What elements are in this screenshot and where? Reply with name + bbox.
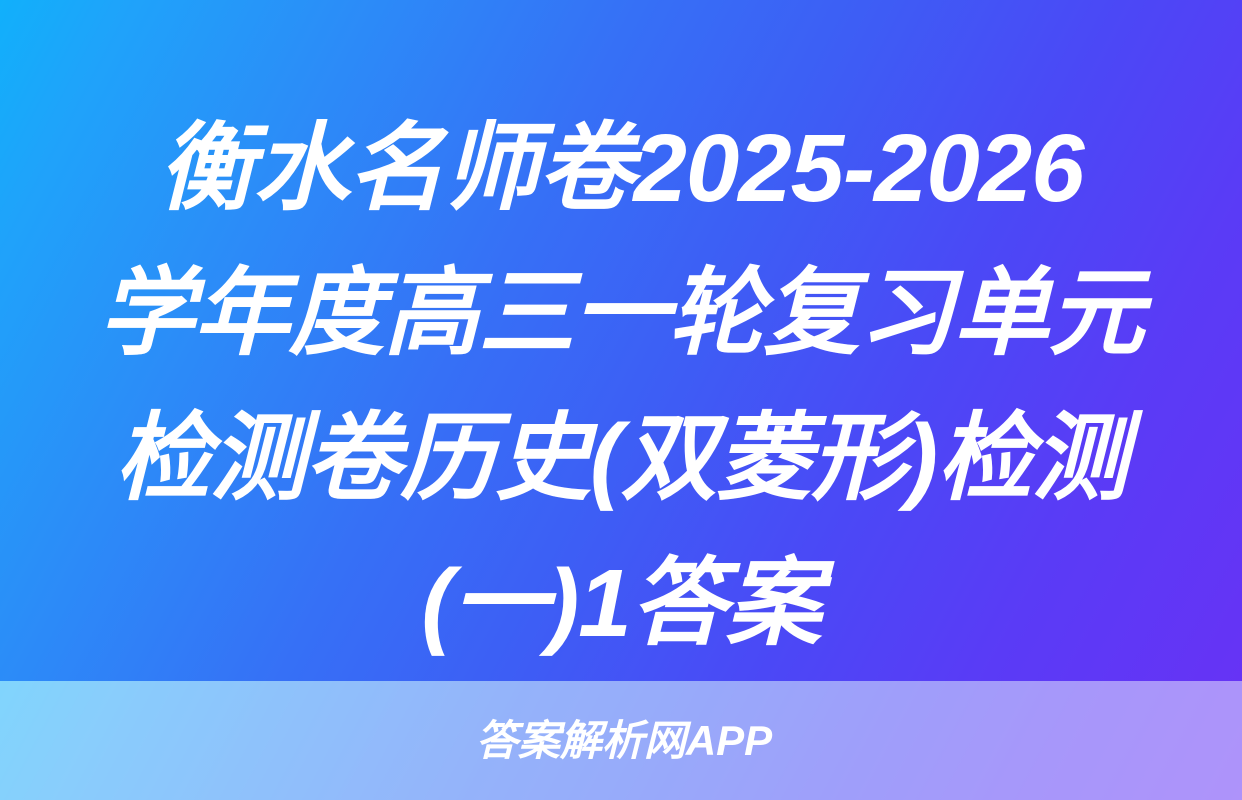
page-title: 衡水名师卷2025-2026 学年度高三一轮复习单元 检测卷历史(双菱形)检测 …: [0, 96, 1242, 676]
brand-label: 答案解析网APP: [470, 717, 772, 765]
title-line-2: 学年度高三一轮复习单元: [56, 241, 1186, 386]
brand-container: 答案解析网APP: [0, 681, 1242, 800]
footer-brand-bar: 答案解析网APP: [0, 681, 1242, 800]
hero-gradient-panel: 衡水名师卷2025-2026 学年度高三一轮复习单元 检测卷历史(双菱形)检测 …: [0, 0, 1242, 681]
title-line-1: 衡水名师卷2025-2026: [56, 96, 1186, 241]
title-line-3: 检测卷历史(双菱形)检测: [56, 386, 1186, 531]
title-line-4: (一)1答案: [56, 531, 1186, 676]
answer-card: 衡水名师卷2025-2026 学年度高三一轮复习单元 检测卷历史(双菱形)检测 …: [0, 0, 1242, 800]
